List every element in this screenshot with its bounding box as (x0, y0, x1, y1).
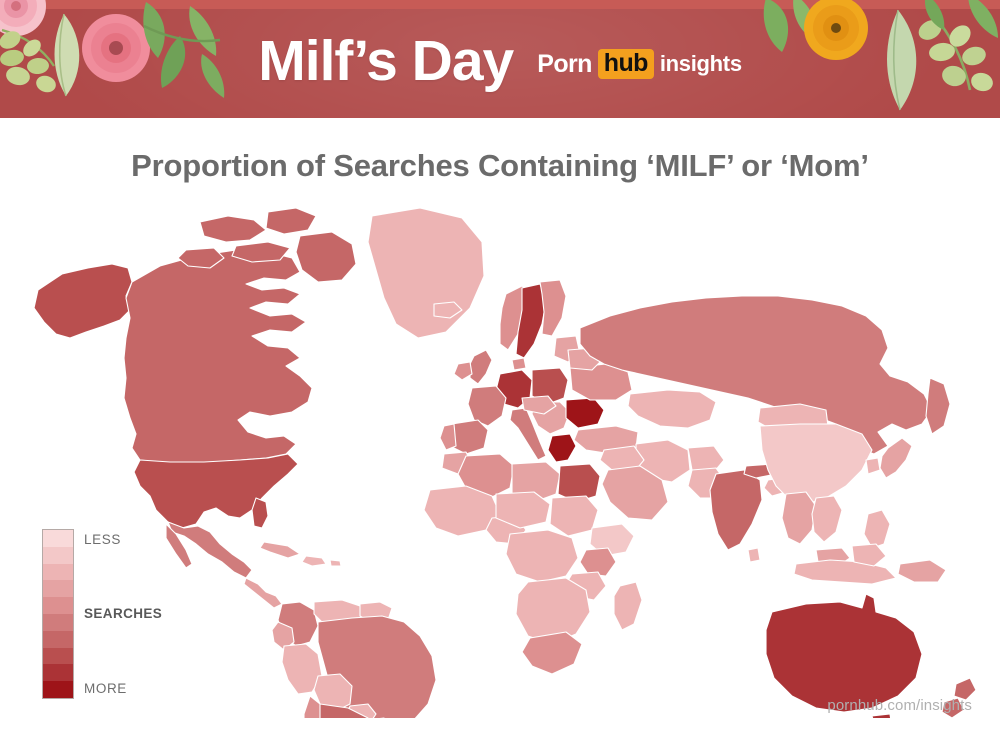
region-canada-arctic-3 (232, 242, 290, 262)
pornhub-insights-logo: Porn hub insights (537, 39, 742, 79)
region-vietnam-laos (812, 496, 842, 542)
legend-swatch-10 (43, 681, 73, 698)
logo-hub-badge: hub (598, 49, 654, 79)
region-ireland (454, 362, 472, 380)
region-cuba (260, 542, 300, 558)
region-portugal (440, 424, 456, 450)
region-afghanistan (688, 446, 724, 472)
region-denmark (512, 358, 526, 370)
infographic-title: Milf’s Day (258, 29, 513, 90)
region-finland (540, 280, 566, 336)
region-papua-new-guinea (898, 560, 946, 582)
legend-swatch-6 (43, 614, 73, 631)
region-indonesia (794, 560, 896, 584)
logo-porn-text: Porn (537, 50, 592, 79)
region-alaska (34, 264, 132, 338)
region-kazakhstan (628, 390, 716, 428)
legend-label-less: LESS (84, 532, 121, 547)
legend-swatch-1 (43, 530, 73, 547)
region-greece (548, 434, 576, 462)
map-legend: LESS SEARCHES MORE (42, 529, 192, 701)
logo-insights-text: insights (660, 51, 742, 77)
region-sudan (550, 496, 598, 536)
region-france (468, 386, 506, 426)
region-canada-arctic-1 (200, 216, 266, 242)
legend-swatch-9 (43, 664, 73, 681)
region-canada-baffin (296, 232, 356, 282)
region-sri-lanka (748, 548, 760, 562)
region-borneo (852, 544, 886, 566)
region-australia (766, 594, 922, 712)
legend-swatch-7 (43, 631, 73, 648)
footer-url: pornhub.com/insights (827, 697, 972, 714)
region-us-florida (252, 498, 268, 528)
region-south-africa (522, 632, 582, 674)
region-madagascar (614, 582, 642, 630)
region-tasmania (872, 714, 892, 718)
region-india (710, 470, 762, 550)
legend-label-searches: SEARCHES (84, 606, 162, 621)
region-south-korea (866, 458, 880, 474)
legend-label-more: MORE (84, 681, 127, 696)
region-myanmar-thailand (782, 492, 816, 544)
region-united-kingdom (470, 350, 492, 384)
page-header: Milf’s Day Porn hub insights (0, 0, 1000, 118)
region-puerto-rico (330, 560, 341, 566)
legend-swatch-4 (43, 580, 73, 597)
region-romania (566, 398, 604, 428)
region-united-states (134, 454, 298, 528)
legend-swatch-5 (43, 597, 73, 614)
legend-color-bar (42, 529, 74, 699)
region-central-africa (506, 530, 578, 582)
region-canada-arctic-2 (266, 208, 316, 234)
page-title: Proportion of Searches Containing ‘MILF’… (0, 148, 1000, 184)
region-canada (124, 250, 312, 462)
legend-swatch-3 (43, 564, 73, 581)
region-greenland (368, 208, 484, 338)
region-kamchatka (926, 378, 950, 434)
legend-swatch-8 (43, 648, 73, 665)
region-central-america (244, 578, 282, 608)
header-title-row: Milf’s Day Porn hub insights (0, 0, 1000, 118)
region-philippines (864, 510, 890, 548)
legend-swatch-2 (43, 547, 73, 564)
region-hispaniola (302, 556, 326, 566)
